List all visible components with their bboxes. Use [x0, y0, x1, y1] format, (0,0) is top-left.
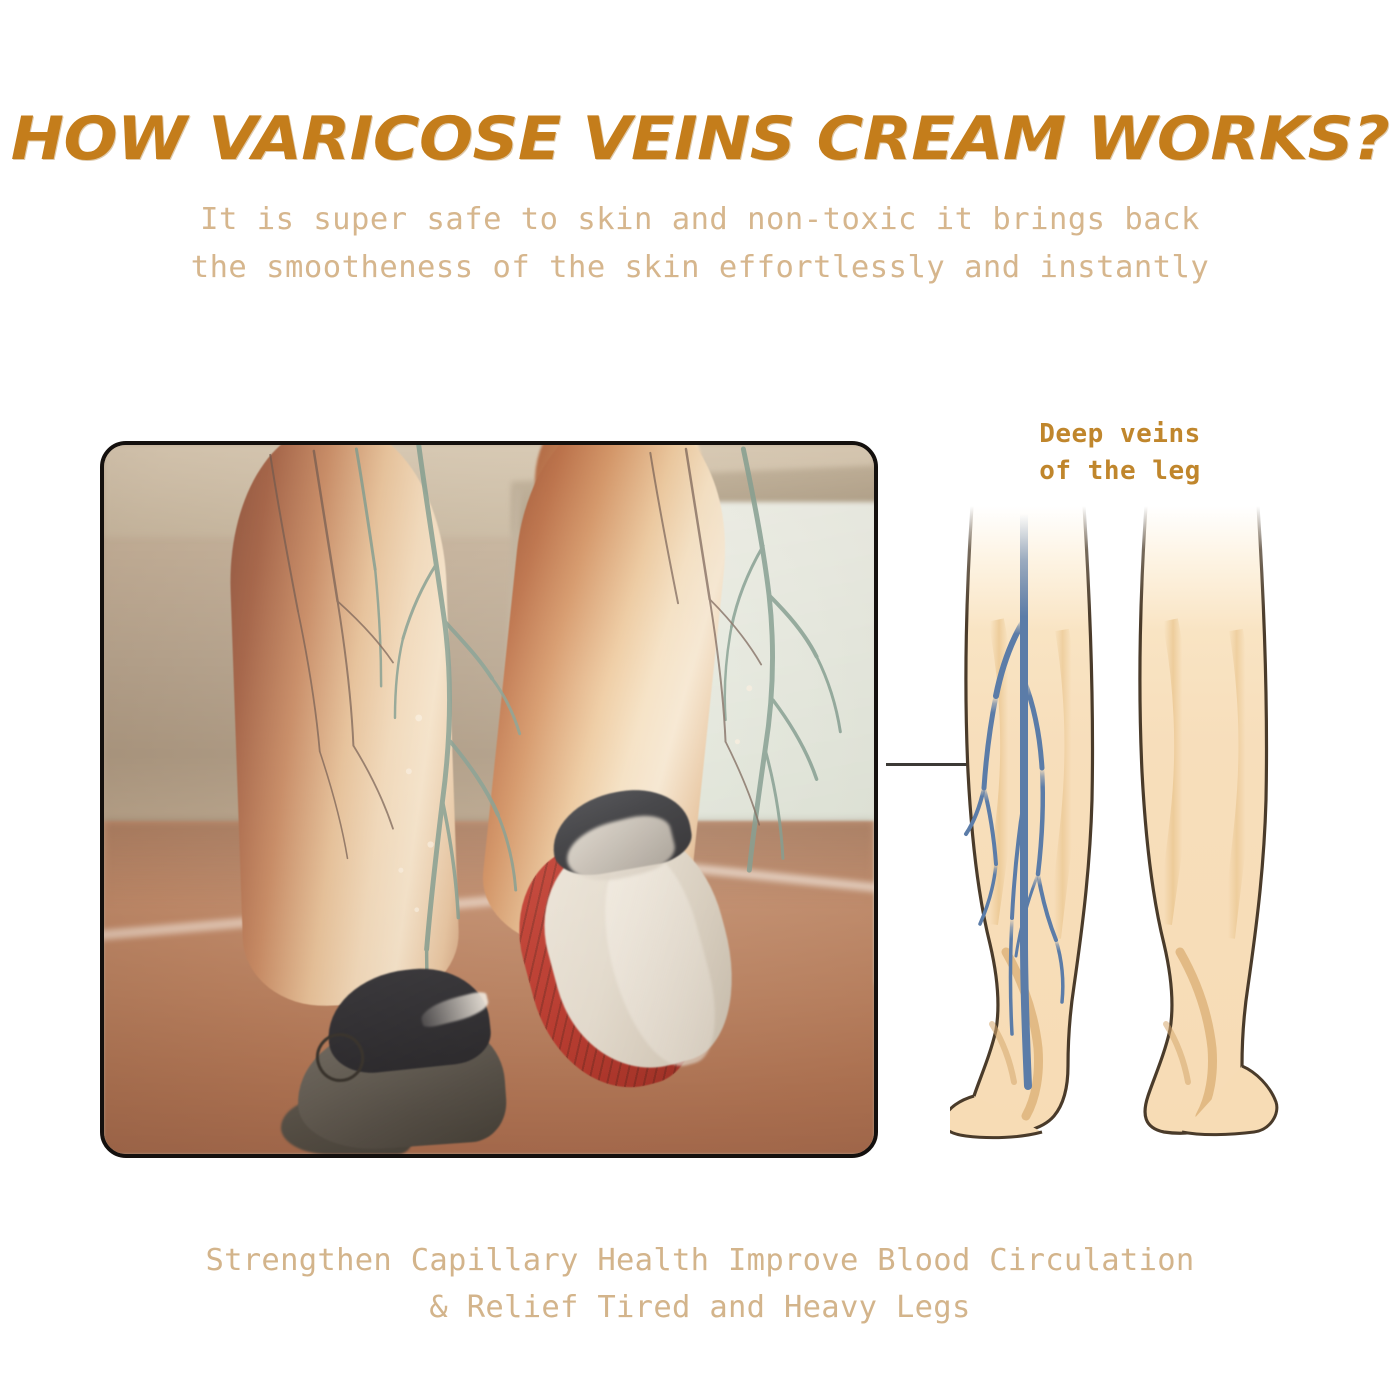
- deep-veins-leg-diagram: [950, 500, 1280, 1172]
- subtitle-line-2: the smootheness of the skin effortlessly…: [0, 244, 1400, 292]
- diagram-left-leg: [950, 506, 1093, 1138]
- diagram-label: Deep veins of the leg: [960, 416, 1280, 490]
- page-subtitle: It is super safe to skin and non-toxic i…: [0, 196, 1400, 292]
- diagram-label-line-2: of the leg: [960, 453, 1280, 490]
- page-title: HOW VARICOSE VEINS CREAM WORKS?: [0, 104, 1400, 174]
- benefits-line-2: & Relief Tired and Heavy Legs: [0, 1284, 1400, 1331]
- infographic-page: HOW VARICOSE VEINS CREAM WORKS? It is su…: [0, 0, 1400, 1400]
- subtitle-line-1: It is super safe to skin and non-toxic i…: [200, 202, 1200, 237]
- diagram-right-leg: [1140, 506, 1277, 1135]
- diagram-label-line-1: Deep veins: [1039, 419, 1201, 449]
- benefits-line-1: Strengthen Capillary Health Improve Bloo…: [205, 1243, 1194, 1278]
- runner-photo-card: [100, 441, 878, 1158]
- benefits-caption: Strengthen Capillary Health Improve Bloo…: [0, 1237, 1400, 1331]
